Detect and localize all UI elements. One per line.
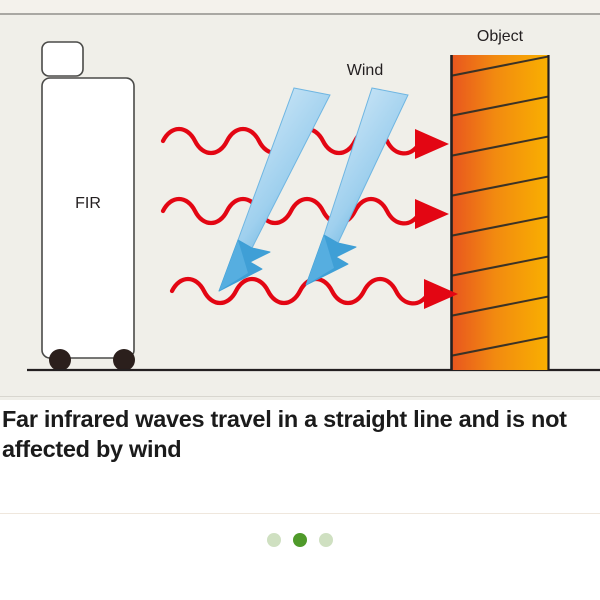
bottom-filler — [0, 552, 600, 600]
pagination-dots[interactable] — [0, 530, 600, 550]
pager-dot-3[interactable] — [319, 533, 333, 547]
fir-device: FIR — [42, 42, 135, 371]
panel-bottom-divider — [0, 396, 600, 397]
fir-control-box — [42, 42, 83, 76]
fir-label: FIR — [75, 195, 101, 212]
fir-body — [42, 78, 134, 358]
wind-arrow-2 — [306, 88, 408, 285]
pager-dot-1[interactable] — [267, 533, 281, 547]
wind-arrows: Wind — [219, 62, 408, 291]
wind-arrow-1 — [219, 88, 330, 291]
wave-middle — [163, 199, 419, 223]
panel-bottom-divider-2 — [0, 398, 600, 400]
fir-wheel-left — [49, 349, 71, 371]
diagram-panel: FIR — [0, 15, 600, 398]
object-block: Object — [445, 28, 556, 370]
diagram-illustration: FIR — [0, 15, 600, 398]
pager-dot-2[interactable] — [293, 533, 307, 547]
fir-wheel-right — [113, 349, 135, 371]
slide-page: FIR — [0, 0, 600, 600]
object-label: Object — [477, 28, 524, 45]
top-chrome-strip — [0, 0, 600, 13]
wave-bottom — [172, 279, 428, 303]
wave-arrowhead-top — [415, 129, 449, 159]
wave-arrowhead-middle — [415, 199, 449, 229]
slide-caption: Far infrared waves travel in a straight … — [0, 404, 600, 464]
wind-label: Wind — [347, 62, 383, 79]
pager-divider — [0, 513, 600, 514]
